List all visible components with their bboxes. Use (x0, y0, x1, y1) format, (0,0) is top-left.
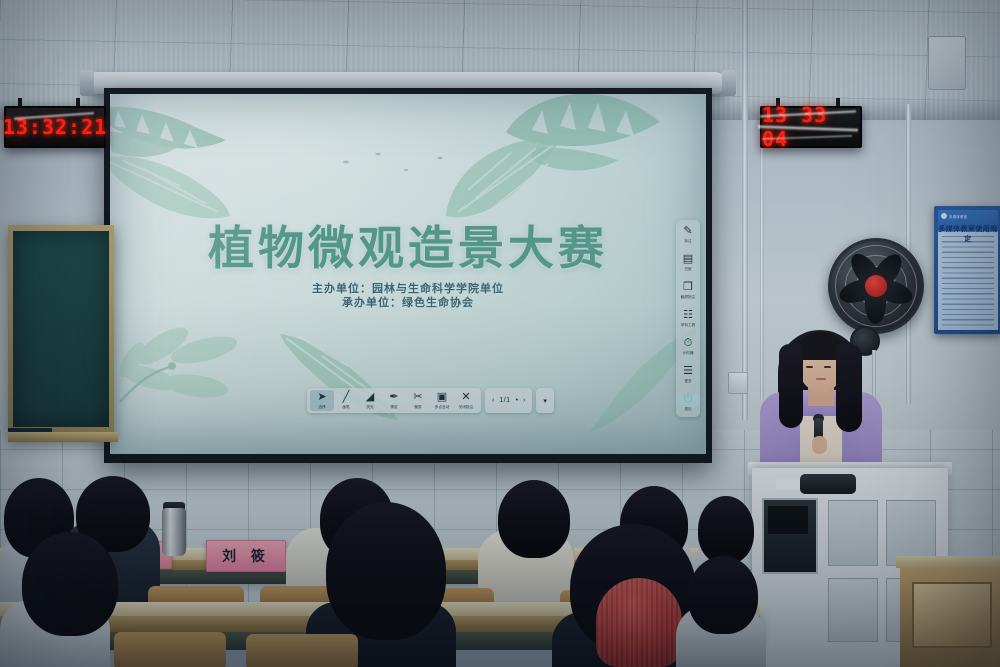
chevron-right-icon[interactable]: › (523, 397, 525, 404)
ppt-side-toolbar-handle[interactable] (676, 394, 700, 407)
presentation-slide: 植物微观造景大赛 主办单位：园林与生命科学学院单位 承办单位：绿色生命协会 ➤ … (110, 94, 706, 454)
ppt-tool-label: 荧光 (366, 404, 373, 409)
side-desk-right-top (896, 556, 1000, 568)
ppt-tool-eraser[interactable]: ✒ 橡皮 (382, 390, 406, 411)
side-desk-right-panel (912, 582, 992, 648)
ppt-tool-pen[interactable]: ╱ 画笔 (334, 390, 358, 411)
student-head-d (498, 480, 570, 558)
wall-junction-box (928, 36, 966, 90)
wall-conduit-pipe-1 (742, 0, 748, 420)
student-head-f (698, 496, 754, 564)
slide-subtitle-line-1: 主办单位：园林与生命科学学院单位 (110, 282, 706, 296)
toolbox-icon: ☷ (683, 310, 693, 321)
poster-header-text: 多媒体教室 (949, 214, 967, 219)
podium-front-panel-3 (828, 578, 878, 642)
ppt-tool-label: 多点互动 (435, 404, 450, 409)
clock-left-time: 13:32:21 (3, 115, 107, 139)
ppt-side-timer[interactable]: ⏱ 计时器 (677, 336, 699, 357)
pen-icon: ╱ (343, 392, 350, 403)
wall-led-clock-right: 13 33 04 (760, 106, 862, 148)
roller-cap-left (80, 70, 94, 96)
whiteboard-icon: ▤ (683, 254, 693, 265)
ppt-side-label: 截屏批注 (681, 294, 696, 299)
ppt-tool-close[interactable]: ✕ 关闭批注 (454, 390, 478, 411)
presenter-hair-right (836, 344, 862, 432)
ppt-page-indicator: 1/1 (499, 397, 510, 404)
chair-back-5 (114, 632, 226, 667)
chevron-left-icon[interactable]: ‹ (492, 397, 494, 404)
student-head-j (688, 556, 758, 634)
screen-capture-icon: ❐ (683, 282, 693, 293)
poster-inner: 多媒体教室 多媒体教室使用规定 (938, 210, 998, 330)
ppt-side-toolbar[interactable]: ✎ 标注 ▤ 白板 ❐ 截屏批注 ☷ 学科工具 ⏱ 计时器 (676, 220, 700, 417)
ppt-tool-label: 选择 (318, 404, 325, 409)
list-icon: ☰ (683, 366, 693, 377)
ppt-side-whiteboard[interactable]: ▤ 白板 (677, 252, 699, 273)
presenter-hair-left (779, 344, 803, 428)
slide-subtitle: 主办单位：园林与生命科学学院单位 承办单位：绿色生命协会 (110, 282, 706, 310)
ppt-more-menu[interactable]: ▾ (536, 388, 554, 413)
presenter-mouth (816, 378, 826, 380)
presenter-eye-right (824, 366, 831, 368)
wall-outlet[interactable] (728, 372, 748, 394)
student-head-g (22, 532, 118, 636)
poster-header: 多媒体教室 (938, 210, 998, 222)
ppt-side-label: 白板 (684, 266, 691, 271)
ppt-tool-label: 画笔 (342, 404, 349, 409)
chevron-down-icon[interactable]: ▾ (543, 397, 547, 405)
ppt-side-label: 计时器 (682, 350, 693, 355)
poster-body-text (942, 236, 994, 326)
wall-mounted-fan[interactable] (828, 238, 924, 334)
cursor-pointer-icon: ➤ (317, 392, 326, 403)
projection-screen-surface: 植物微观造景大赛 主办单位：园林与生命科学学院单位 承办单位：绿色生命协会 ➤ … (110, 94, 706, 454)
ppt-side-label: 学科工具 (681, 322, 696, 327)
classroom-photo: 植物微观造景大赛 主办单位：园林与生命科学学院单位 承办单位：绿色生命协会 ➤ … (0, 0, 1000, 667)
ppt-side-screen-capture[interactable]: ❐ 截屏批注 (677, 280, 699, 301)
leaf-speck-cluster (336, 144, 456, 184)
ppt-tool-cursor-pointer[interactable]: ➤ 选择 (310, 390, 334, 411)
monstera-leaf-top-right (502, 94, 662, 184)
ppt-tool-label: 橡皮 (390, 404, 397, 409)
ppt-tool-highlighter[interactable]: ◢ 荧光 (358, 390, 382, 411)
student-head-h (326, 502, 446, 640)
chalk-tray (8, 432, 118, 442)
ppt-side-label: 更多 (684, 378, 691, 383)
fan-hub (865, 275, 887, 297)
ppt-side-toolbox[interactable]: ☷ 学科工具 (677, 308, 699, 329)
ppt-tool-screen-mirror[interactable]: ▣ 多点互动 (430, 390, 454, 411)
ppt-side-label: 标注 (684, 238, 691, 243)
ppt-side-annotate[interactable]: ✎ 标注 (677, 224, 699, 245)
presenter-eye-left (806, 366, 813, 368)
green-chalkboard (13, 231, 109, 427)
ppt-annotation-toolbar[interactable]: ➤ 选择 ╱ 画笔 ◢ 荧光 ✒ 橡皮 (307, 388, 554, 413)
slide-subtitle-line-2: 承办单位：绿色生命协会 (110, 296, 706, 310)
thermos-bottle (162, 508, 186, 556)
timer-icon: ⏱ (684, 338, 693, 349)
presenter-hand (812, 436, 827, 454)
scissors-icon: ✂ (413, 392, 422, 403)
name-placard-text: 刘 筱 (222, 546, 270, 566)
chair-back-6 (246, 634, 358, 667)
ppt-tool-scissors[interactable]: ✂ 裁剪 (406, 390, 430, 411)
beanie-knit-texture (596, 578, 682, 667)
poster-logo-icon (941, 213, 947, 219)
podium-front-panel-1 (828, 500, 878, 566)
ppt-page-nav[interactable]: ‹ 1/1 • › (485, 388, 532, 413)
roller-cap-right (722, 70, 736, 96)
close-icon: ✕ (461, 392, 470, 403)
ppt-tool-group[interactable]: ➤ 选择 ╱ 画笔 ◢ 荧光 ✒ 橡皮 (307, 388, 481, 413)
monstera-leaf-top-left (110, 102, 228, 180)
screen-mirror-icon: ▣ (437, 392, 447, 403)
banana-leaf-mid-right (440, 138, 560, 222)
annotate-icon: ✎ (683, 226, 692, 237)
ppt-tool-label: 裁剪 (414, 404, 421, 409)
eraser-icon: ✒ (389, 392, 398, 403)
podium-control-panel[interactable] (768, 506, 808, 534)
wall-conduit-pipe-3 (760, 120, 764, 400)
highlighter-icon: ◢ (366, 392, 374, 403)
wall-notice-poster: 多媒体教室 多媒体教室使用规定 (934, 206, 1000, 334)
ppt-side-more[interactable]: ☰ 更多 (677, 364, 699, 385)
clock-right-time: 13 33 04 (762, 103, 860, 151)
wall-led-clock-left: 13:32:21 (4, 106, 106, 148)
ppt-tool-label: 关闭批注 (459, 404, 474, 409)
name-placard-1: 刘 筱 (206, 540, 286, 572)
slide-title: 植物微观造景大赛 (110, 212, 706, 278)
sprig-leaf-bottom-left (116, 316, 266, 426)
podium-device[interactable] (800, 474, 856, 494)
dot-icon: • (516, 397, 518, 404)
